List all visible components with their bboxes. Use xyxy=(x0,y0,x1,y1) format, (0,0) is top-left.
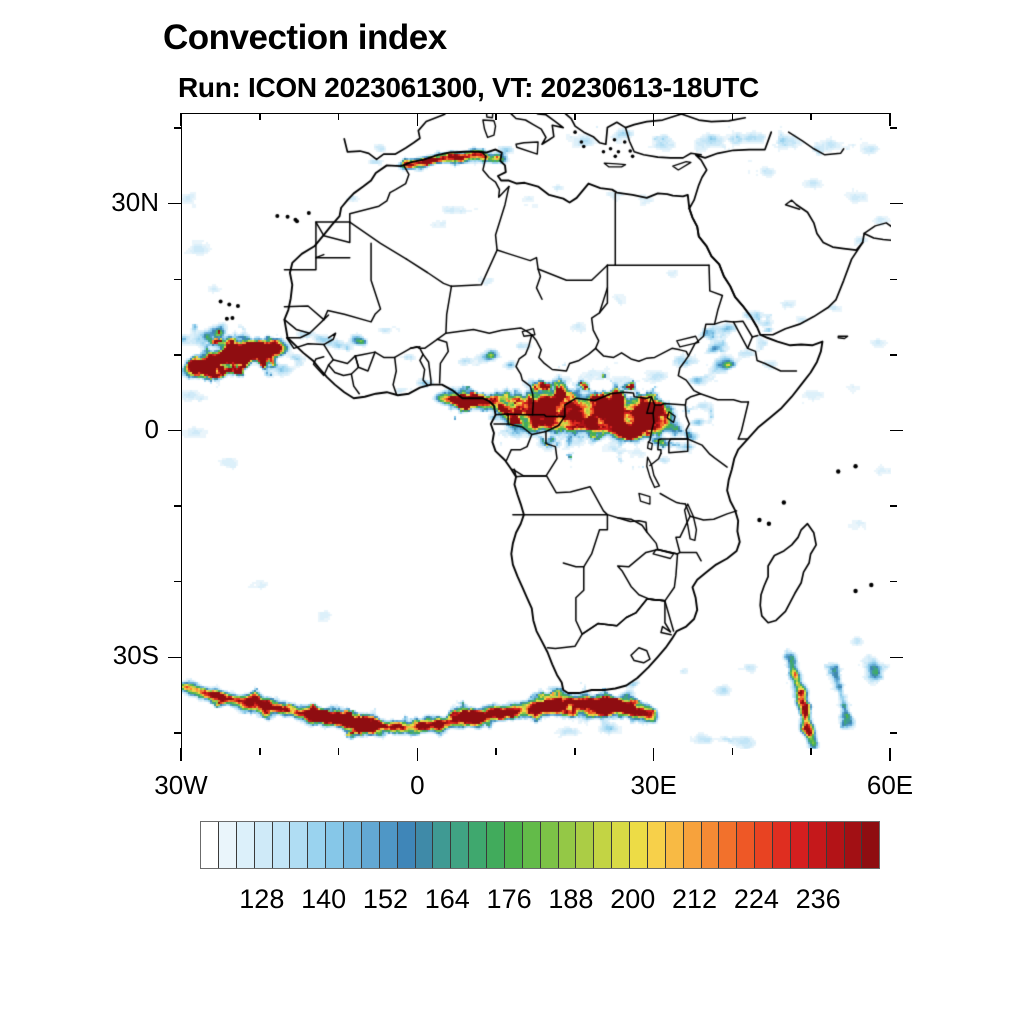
x-axis-tick-label: 30E xyxy=(631,770,677,801)
colorbar-tick-label: 188 xyxy=(548,884,593,915)
colorbar-segment xyxy=(487,822,505,868)
x-axis-top-minor-tick xyxy=(574,113,576,120)
run-valid-time-subtitle: Run: ICON 2023061300, VT: 20230613-18UTC xyxy=(178,72,759,104)
colorbar-segment xyxy=(862,822,879,868)
y-axis-right-minor-tick xyxy=(890,732,897,734)
colorbar-segment xyxy=(612,822,630,868)
colorbar-segment xyxy=(594,822,612,868)
colorbar-segment xyxy=(845,822,863,868)
colorbar-segment xyxy=(630,822,648,868)
x-axis-minor-tick xyxy=(574,748,576,755)
x-axis-top-minor-tick xyxy=(338,113,340,120)
y-axis-major-tick xyxy=(168,430,181,432)
x-axis-top-minor-tick xyxy=(810,113,812,120)
colorbar-segment xyxy=(559,822,577,868)
y-axis-right-minor-tick xyxy=(890,505,897,507)
colorbar-segment xyxy=(827,822,845,868)
colorbar-segment xyxy=(809,822,827,868)
y-axis-right-major-tick xyxy=(890,657,903,659)
colorbar-tick-label: 152 xyxy=(363,884,408,915)
y-axis-minor-tick xyxy=(174,505,181,507)
colorbar-segment xyxy=(398,822,416,868)
x-axis-top-minor-tick xyxy=(259,113,261,120)
y-axis-major-tick xyxy=(168,657,181,659)
map-plot-area xyxy=(181,113,890,748)
x-axis-major-tick xyxy=(653,748,655,761)
colorbar-segment xyxy=(219,822,237,868)
colorbar-segment xyxy=(773,822,791,868)
y-axis-tick-label: 30N xyxy=(111,187,159,218)
x-axis-top-major-tick xyxy=(653,113,655,126)
colorbar-segment xyxy=(326,822,344,868)
x-axis-major-tick xyxy=(180,748,182,761)
x-axis-top-minor-tick xyxy=(732,113,734,120)
x-axis-top-major-tick xyxy=(889,113,891,126)
x-axis-top-major-tick xyxy=(417,113,419,126)
x-axis-minor-tick xyxy=(732,748,734,755)
colorbar-tick-label: 140 xyxy=(301,884,346,915)
colorbar-segment xyxy=(362,822,380,868)
colorbar-tick-label: 164 xyxy=(425,884,470,915)
y-axis-right-minor-tick xyxy=(890,279,897,281)
colorbar-tick-label: 212 xyxy=(672,884,717,915)
x-axis-major-tick xyxy=(889,748,891,761)
colorbar-segment xyxy=(273,822,291,868)
colorbar-segment xyxy=(237,822,255,868)
x-axis-tick-label: 60E xyxy=(867,770,913,801)
y-axis-right-minor-tick xyxy=(890,354,897,356)
colorbar-segment xyxy=(791,822,809,868)
y-axis-minor-tick xyxy=(174,581,181,583)
convection-index-map-page: Convection index Run: ICON 2023061300, V… xyxy=(0,0,1024,1024)
y-axis-right-minor-tick xyxy=(890,127,897,129)
colorbar-segment xyxy=(523,822,541,868)
colorbar-segment xyxy=(648,822,666,868)
colorbar-segment xyxy=(255,822,273,868)
colorbar-segment xyxy=(684,822,702,868)
page-title: Convection index xyxy=(163,18,447,58)
colorbar-segment xyxy=(541,822,559,868)
colorbar xyxy=(200,821,880,869)
y-axis-right-major-tick xyxy=(890,430,903,432)
y-axis-minor-tick xyxy=(174,279,181,281)
colorbar-segment xyxy=(666,822,684,868)
y-axis-minor-tick xyxy=(174,354,181,356)
y-axis-tick-label: 30S xyxy=(113,640,159,671)
colorbar-segment xyxy=(576,822,594,868)
colorbar-segment xyxy=(451,822,469,868)
colorbar-tick-label: 176 xyxy=(487,884,532,915)
colorbar-segment xyxy=(469,822,487,868)
colorbar-segment xyxy=(755,822,773,868)
colorbar-tick-label: 236 xyxy=(796,884,841,915)
colorbar-segment xyxy=(344,822,362,868)
y-axis-minor-tick xyxy=(174,127,181,129)
x-axis-top-minor-tick xyxy=(495,113,497,120)
x-axis-tick-label: 30W xyxy=(154,770,207,801)
colorbar-segment xyxy=(505,822,523,868)
x-axis-top-major-tick xyxy=(180,113,182,126)
x-axis-minor-tick xyxy=(495,748,497,755)
colorbar-segment xyxy=(719,822,737,868)
y-axis-tick-label: 0 xyxy=(145,414,159,445)
y-axis-minor-tick xyxy=(174,732,181,734)
colorbar-segment xyxy=(201,822,219,868)
colorbar-segment xyxy=(702,822,720,868)
y-axis-right-major-tick xyxy=(890,203,903,205)
colorbar-tick-label: 128 xyxy=(239,884,284,915)
colorbar-segment xyxy=(433,822,451,868)
convection-index-field xyxy=(182,114,891,749)
colorbar-segment xyxy=(737,822,755,868)
x-axis-minor-tick xyxy=(259,748,261,755)
x-axis-minor-tick xyxy=(810,748,812,755)
y-axis-major-tick xyxy=(168,203,181,205)
x-axis-tick-label: 0 xyxy=(410,770,424,801)
x-axis-minor-tick xyxy=(338,748,340,755)
colorbar-segment xyxy=(290,822,308,868)
colorbar-tick-label: 200 xyxy=(610,884,655,915)
y-axis-right-minor-tick xyxy=(890,581,897,583)
colorbar-segment xyxy=(416,822,434,868)
colorbar-segment xyxy=(380,822,398,868)
colorbar-tick-label: 224 xyxy=(734,884,779,915)
colorbar-segment xyxy=(308,822,326,868)
x-axis-major-tick xyxy=(417,748,419,761)
